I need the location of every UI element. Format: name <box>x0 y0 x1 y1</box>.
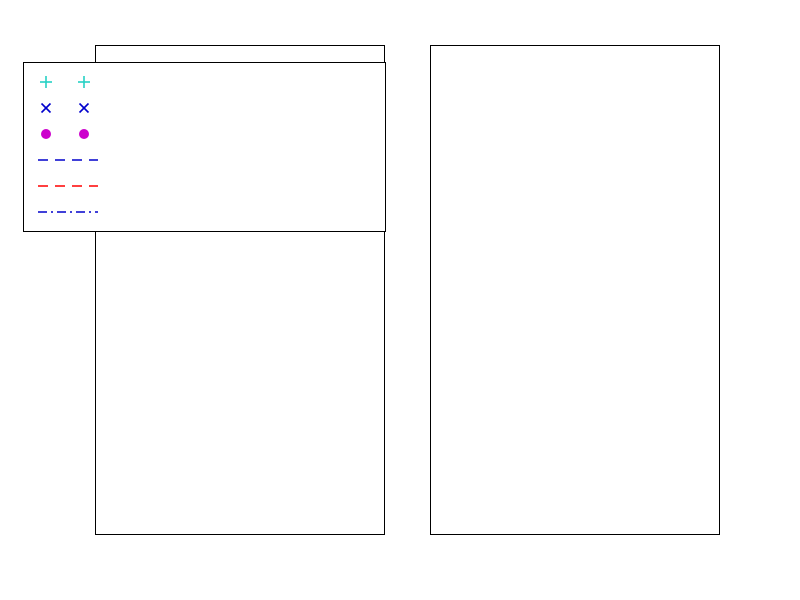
figure-canvas <box>0 0 800 600</box>
legend-line-dashdot-icon <box>32 200 106 224</box>
legend-item <box>32 173 377 199</box>
legend-item <box>32 199 377 225</box>
legend-item <box>32 69 377 95</box>
legend <box>23 62 386 232</box>
legend-item <box>32 95 377 121</box>
histogram-of-fwhm-plot <box>430 45 720 535</box>
legend-line-dashed-red-icon <box>32 174 106 198</box>
legend-marker-cross-icon <box>32 96 106 120</box>
legend-line-dashed-blue-icon <box>32 148 106 172</box>
legend-item <box>32 121 377 147</box>
legend-marker-dot-icon <box>32 122 106 146</box>
legend-item <box>32 147 377 173</box>
legend-marker-plus-icon <box>32 70 106 94</box>
histogram-canvas <box>431 46 719 534</box>
